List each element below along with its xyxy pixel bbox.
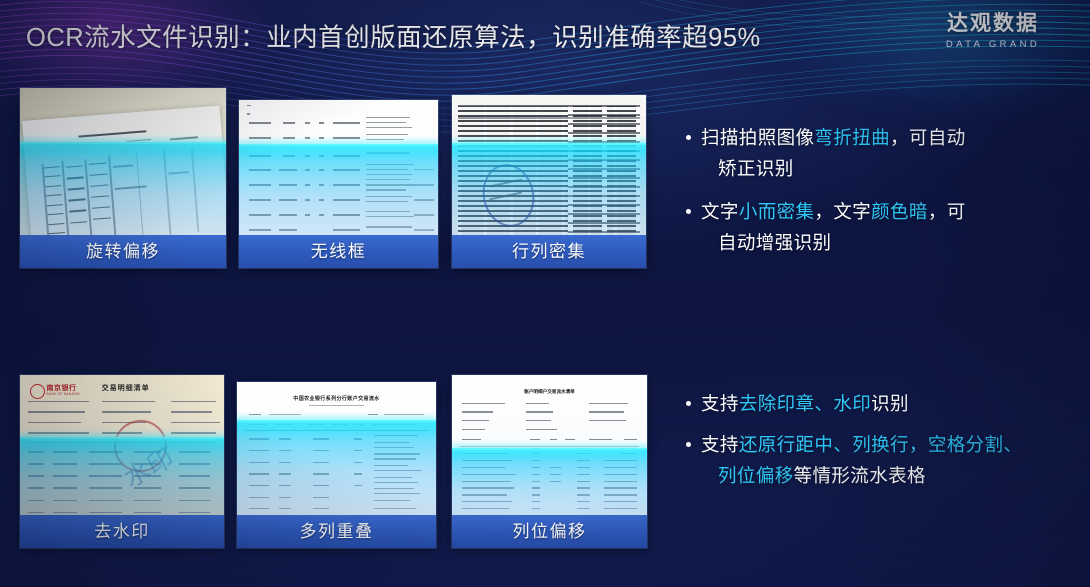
thumbnail-column-offset[interactable]: 账户明细户交易流水清单 (452, 375, 647, 548)
bullet-item: 文字小而密集，文字颜色暗，可 自动增强识别 (684, 196, 1070, 258)
bank-logo-icon (30, 384, 45, 399)
bullet-text-highlight: 弯折扭曲 (814, 127, 890, 148)
thumbnail-remove-watermark[interactable]: 南京银行 BANK OF NANJING 交易明细清单 (20, 375, 224, 548)
bullet-text: 识别 (871, 393, 909, 414)
bullet-item: 支持去除印章、水印识别 (684, 388, 1076, 419)
page-title: OCR流水文件识别：业内首创版面还原算法，识别准确率超95% (26, 17, 761, 54)
bullet-text: 文字 (701, 201, 739, 222)
bullet-line: 文字小而密集，文字颜色暗，可 (701, 201, 966, 222)
bullet-text: 支持 (701, 434, 739, 455)
thumbnail-caption: 行列密集 (452, 235, 646, 268)
bullet-text: 等情形流水表格 (794, 465, 926, 486)
bullet-text-highlight: 还原行距中、列换行，空格分割、 (739, 434, 1023, 455)
bullet-item: 支持还原行距中、列换行，空格分割、 列位偏移等情形流水表格 (684, 429, 1076, 491)
brand-name-cn: 达观数据 (918, 12, 1068, 36)
bullet-text: 支持 (701, 393, 739, 414)
bank-name-en: BANK OF NANJING (47, 392, 80, 396)
document-title: 中国农业银行系列分行账户交易流水 (237, 395, 436, 402)
bullet-line: 自动增强识别 (701, 227, 1070, 258)
document-title: 交易明细清单 (102, 383, 150, 393)
bullet-text: 自动增强识别 (718, 232, 831, 253)
bullet-group-top: 扫描拍照图像弯折扭曲，可自动 矫正识别 文字小而密集，文字颜色暗，可 自动增强识… (684, 122, 1070, 258)
bullet-text: 扫描拍照图像 (701, 127, 814, 148)
bullet-line: 支持还原行距中、列换行，空格分割、 (701, 434, 1022, 455)
bullet-group-bottom: 支持去除印章、水印识别 支持还原行距中、列换行，空格分割、 列位偏移等情形流水表… (684, 388, 1076, 491)
bullet-text-highlight: 小而密集 (739, 201, 815, 222)
bullet-text-highlight: 列位偏移 (718, 465, 794, 486)
bullet-text: ，文字 (814, 201, 871, 222)
thumbnail-caption: 多列重叠 (237, 515, 436, 548)
document-title: 账户明细户交易流水清单 (452, 389, 647, 395)
thumbnail-borderless-table[interactable]: 无线框 (239, 100, 438, 268)
slide-root: OCR流水文件识别：业内首创版面还原算法，识别准确率超95% 达观数据 DATA… (0, 0, 1090, 587)
bullet-item: 扫描拍照图像弯折扭曲，可自动 矫正识别 (684, 122, 1070, 184)
bullet-line: 扫描拍照图像弯折扭曲，可自动 (701, 127, 966, 148)
bullet-line: 支持去除印章、水印识别 (701, 393, 909, 414)
brand-logo: 达观数据 DATA GRAND (918, 12, 1068, 50)
thumbnail-dense-rows-columns[interactable]: 行列密集 (452, 95, 646, 268)
bank-name: 南京银行 (47, 383, 77, 393)
brand-name-en: DATA GRAND (918, 39, 1068, 50)
thumbnail-caption: 无线框 (239, 235, 438, 268)
bullet-text: ，可 (928, 201, 966, 222)
thumbnail-overlapping-columns[interactable]: 中国农业银行系列分行账户交易流水 (237, 382, 436, 548)
thumbnail-caption: 旋转偏移 (20, 235, 226, 268)
bullet-text-highlight: 颜色暗 (871, 201, 928, 222)
bullet-text: ，可自动 (890, 127, 966, 148)
bullet-line: 矫正识别 (701, 153, 1070, 184)
thumbnail-rotation-offset[interactable]: 旋转偏移 (20, 88, 226, 268)
thumbnail-caption: 去水印 (20, 515, 224, 548)
thumbnail-caption: 列位偏移 (452, 515, 647, 548)
bullet-line: 列位偏移等情形流水表格 (701, 460, 1076, 491)
bullet-text: 矫正识别 (718, 158, 794, 179)
bullet-text-highlight: 去除印章、水印 (739, 393, 871, 414)
